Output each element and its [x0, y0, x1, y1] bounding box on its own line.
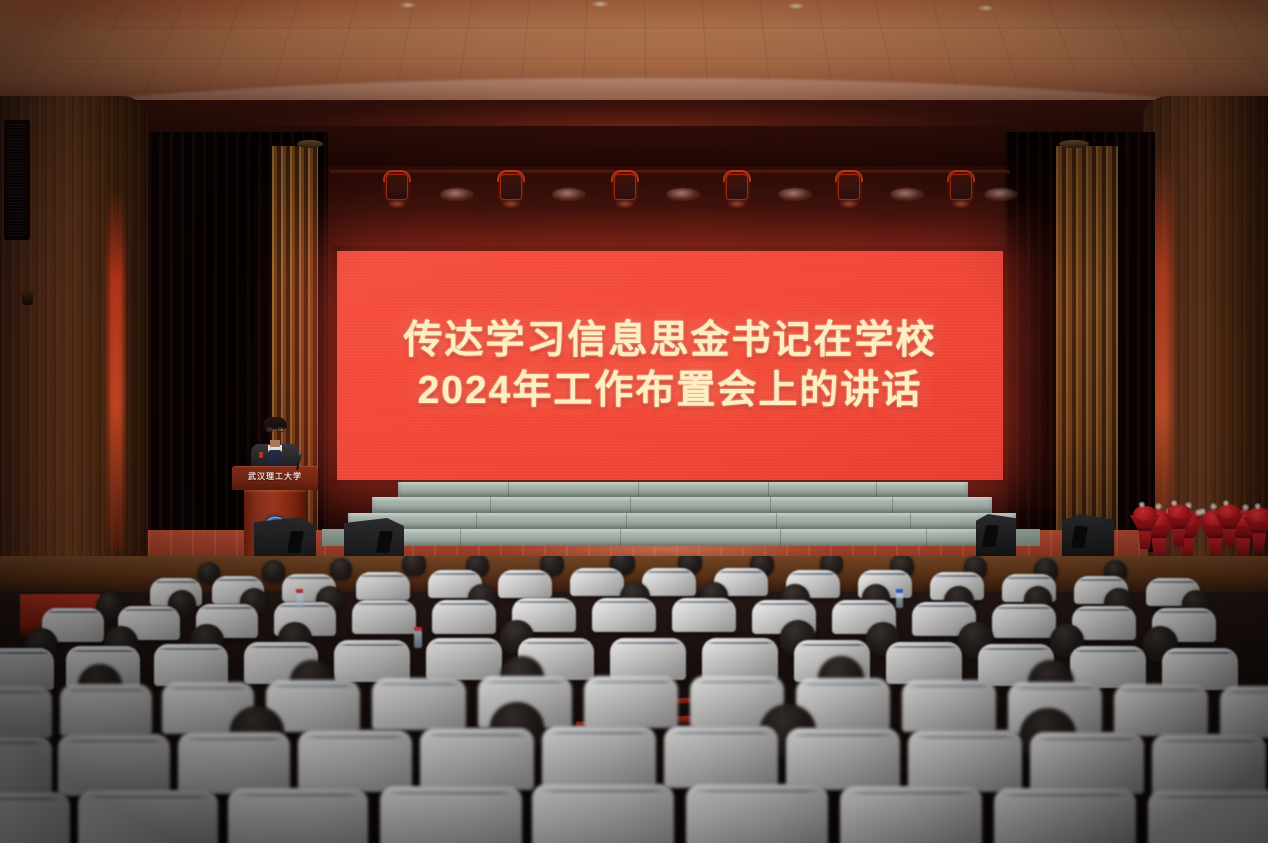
- audience-seat: [0, 736, 52, 798]
- audience-seat: [1152, 734, 1266, 796]
- choir-riser-tier-1: [322, 529, 1040, 546]
- audience-seat: [178, 732, 290, 794]
- stage-light-icon: [386, 174, 408, 200]
- audience-seat: [0, 686, 52, 738]
- audience-seat: [60, 684, 152, 736]
- audience-seat: [58, 734, 170, 796]
- stage-light-icon: [614, 174, 636, 200]
- par-light-icon: [666, 188, 700, 201]
- wall-accent-light-left: [108, 190, 124, 550]
- podium-lectern-top: 武汉理工大学: [232, 466, 318, 490]
- audience-seat: [0, 792, 70, 843]
- audience-seat: [426, 638, 502, 680]
- audience-seat: [334, 640, 410, 682]
- par-light-icon: [552, 188, 586, 201]
- audience-seat: [570, 568, 624, 596]
- stage-light-icon: [726, 174, 748, 200]
- audience-seat: [664, 726, 778, 788]
- audience-seat: [0, 648, 54, 690]
- flower-arrangement: [1164, 497, 1194, 546]
- audience-seat: [992, 604, 1056, 638]
- podium-nameplate: 武汉理工大学: [232, 471, 318, 482]
- choir-riser-tier-4: [398, 482, 968, 497]
- water-bottle: [896, 592, 903, 608]
- led-display-screen[interactable]: 传达学习信息思金书记在学校 2024年工作布置会上的讲话: [337, 251, 1003, 480]
- audience-seat: [1220, 686, 1268, 738]
- audience-seat: [532, 784, 674, 843]
- par-light-icon: [890, 188, 924, 201]
- audience-seat: [902, 680, 996, 732]
- audience-seat: [298, 730, 412, 792]
- audience-seat: [78, 790, 218, 843]
- audience-seat: [786, 728, 900, 790]
- wall-sconce-icon: [22, 290, 33, 305]
- audience-seat: [994, 788, 1136, 843]
- audience-seat: [1030, 732, 1144, 794]
- stage-light-icon: [950, 174, 972, 200]
- audience-seat: [228, 788, 368, 843]
- auditorium-scene: 传达学习信息思金书记在学校 2024年工作布置会上的讲话: [0, 0, 1268, 843]
- audience-seat: [702, 638, 778, 680]
- par-light-icon: [984, 188, 1018, 201]
- flower-arrangement: [1130, 499, 1161, 549]
- flower-arrangement: [1243, 500, 1268, 552]
- audience-seating-area: [0, 556, 1268, 843]
- overhead-lighting-truss: [330, 168, 1010, 220]
- ceiling-downlight: [592, 1, 608, 7]
- audience-seat: [840, 786, 982, 843]
- audience-member: [402, 556, 426, 576]
- audience-seat: [498, 570, 552, 598]
- ceiling-downlight: [400, 2, 416, 8]
- audience-seat: [380, 786, 522, 843]
- audience-seat: [356, 572, 410, 600]
- led-title-line-2: 2024年工作布置会上的讲话: [418, 366, 923, 416]
- audience-seat: [672, 598, 736, 632]
- curtain-rail-cap: [297, 140, 323, 148]
- par-light-icon: [778, 188, 812, 201]
- ceiling-downlight: [788, 3, 804, 9]
- audience-seat: [154, 644, 228, 686]
- audience-seat: [686, 784, 828, 843]
- truss-bar: [330, 170, 1010, 174]
- proscenium-arch-glow: [120, 96, 1150, 126]
- ceiling-downlight: [978, 5, 994, 11]
- par-light-icon: [440, 188, 474, 201]
- ceiling: [0, 0, 1268, 108]
- audience-seat: [372, 678, 466, 730]
- stage-monitor-speaker: [976, 514, 1016, 556]
- riser-side-right: [1016, 529, 1040, 546]
- stage-light-icon: [838, 174, 860, 200]
- audience-seat: [352, 600, 416, 634]
- audience-member: [330, 558, 352, 580]
- curtain-rail-cap: [1059, 140, 1089, 148]
- audience-seat: [584, 676, 678, 728]
- audience-seat: [610, 638, 686, 680]
- audience-seat: [542, 726, 656, 788]
- audience-seat: [420, 728, 534, 790]
- wall-mounted-speaker-icon: [4, 120, 30, 240]
- audience-seat: [886, 642, 962, 684]
- stage-monitor-speaker: [1062, 514, 1114, 560]
- choir-riser-tier-3: [372, 497, 992, 513]
- audience-seat: [908, 730, 1022, 792]
- flower-arrangement: [1214, 497, 1244, 546]
- choir-riser-tier-2: [348, 513, 1016, 529]
- led-title-line-1: 传达学习信息思金书记在学校: [403, 316, 936, 366]
- audience-seat: [642, 568, 696, 596]
- audience-seat: [432, 600, 496, 634]
- audience-seat: [1114, 684, 1208, 736]
- stage-light-icon: [500, 174, 522, 200]
- audience-seat: [1148, 790, 1268, 843]
- stage-curtain-gold-right: [1056, 146, 1118, 556]
- water-bottle: [296, 592, 303, 608]
- flower-arrangement-group: [1142, 498, 1268, 558]
- audience-seat: [592, 598, 656, 632]
- audience-member: [262, 560, 285, 583]
- water-bottle: [414, 630, 422, 648]
